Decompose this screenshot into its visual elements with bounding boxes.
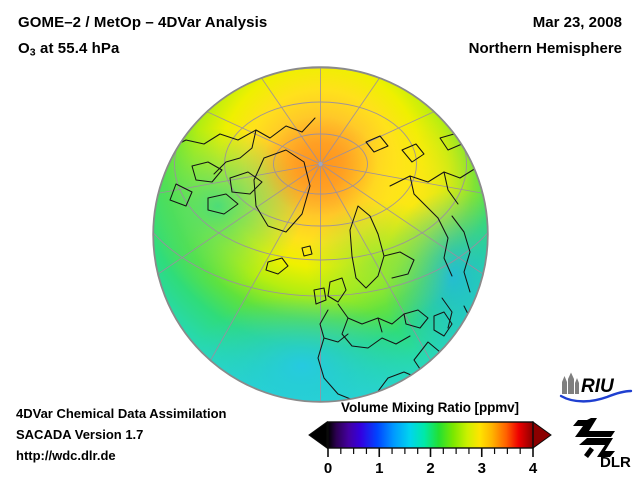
- riu-wordmark: RIU: [581, 376, 615, 397]
- colorbar-tick-label: 4: [529, 460, 538, 477]
- colorbar-cap-low: [309, 422, 327, 448]
- footer-line-version: SACADA Version 1.7: [16, 424, 227, 445]
- date-label: Mar 23, 2008: [469, 14, 622, 31]
- globe-svg: [152, 66, 489, 403]
- dlr-mark-icon: [573, 418, 615, 458]
- colorbar: Volume Mixing Ratio [ppmv] 01234: [305, 400, 555, 478]
- dlr-logo: DLR: [567, 414, 633, 470]
- globe-map: [152, 66, 489, 403]
- colorbar-cap-high: [533, 422, 551, 448]
- footer-line-url: http://wdc.dlr.de: [16, 445, 227, 466]
- species-level-label: O3 at 55.4 hPa: [18, 40, 267, 59]
- colorbar-title: Volume Mixing Ratio [ppmv]: [305, 400, 555, 415]
- colorbar-gradient: [328, 422, 533, 448]
- header-left: GOME–2 / MetOp – 4DVar Analysis O3 at 55…: [18, 14, 267, 59]
- header-right: Mar 23, 2008 Northern Hemisphere: [469, 14, 622, 57]
- species-suffix: at 55.4 hPa: [36, 40, 120, 57]
- colorbar-svg: 01234: [305, 420, 555, 478]
- dlr-wordmark: DLR: [600, 454, 631, 470]
- colorbar-ticks: [328, 448, 533, 457]
- colorbar-tick-label: 2: [426, 460, 434, 477]
- footer-credits: 4DVar Chemical Data Assimilation SACADA …: [16, 403, 227, 466]
- footer-line-assimilation: 4DVar Chemical Data Assimilation: [16, 403, 227, 424]
- page-title: GOME–2 / MetOp – 4DVar Analysis: [18, 14, 267, 31]
- colorbar-tick-label: 3: [478, 460, 486, 477]
- hemisphere-label: Northern Hemisphere: [469, 40, 622, 57]
- colorbar-tick-label: 0: [324, 460, 332, 477]
- dlr-logo-svg: DLR: [567, 414, 633, 470]
- north-pole-marker: [318, 162, 322, 166]
- colorbar-tick-labels: 01234: [324, 460, 538, 477]
- riu-logo: RIU: [559, 372, 633, 404]
- colorbar-tick-label: 1: [375, 460, 383, 477]
- riu-logo-svg: RIU: [559, 372, 633, 404]
- riu-towers-icon: [562, 373, 579, 395]
- species-prefix: O: [18, 40, 30, 57]
